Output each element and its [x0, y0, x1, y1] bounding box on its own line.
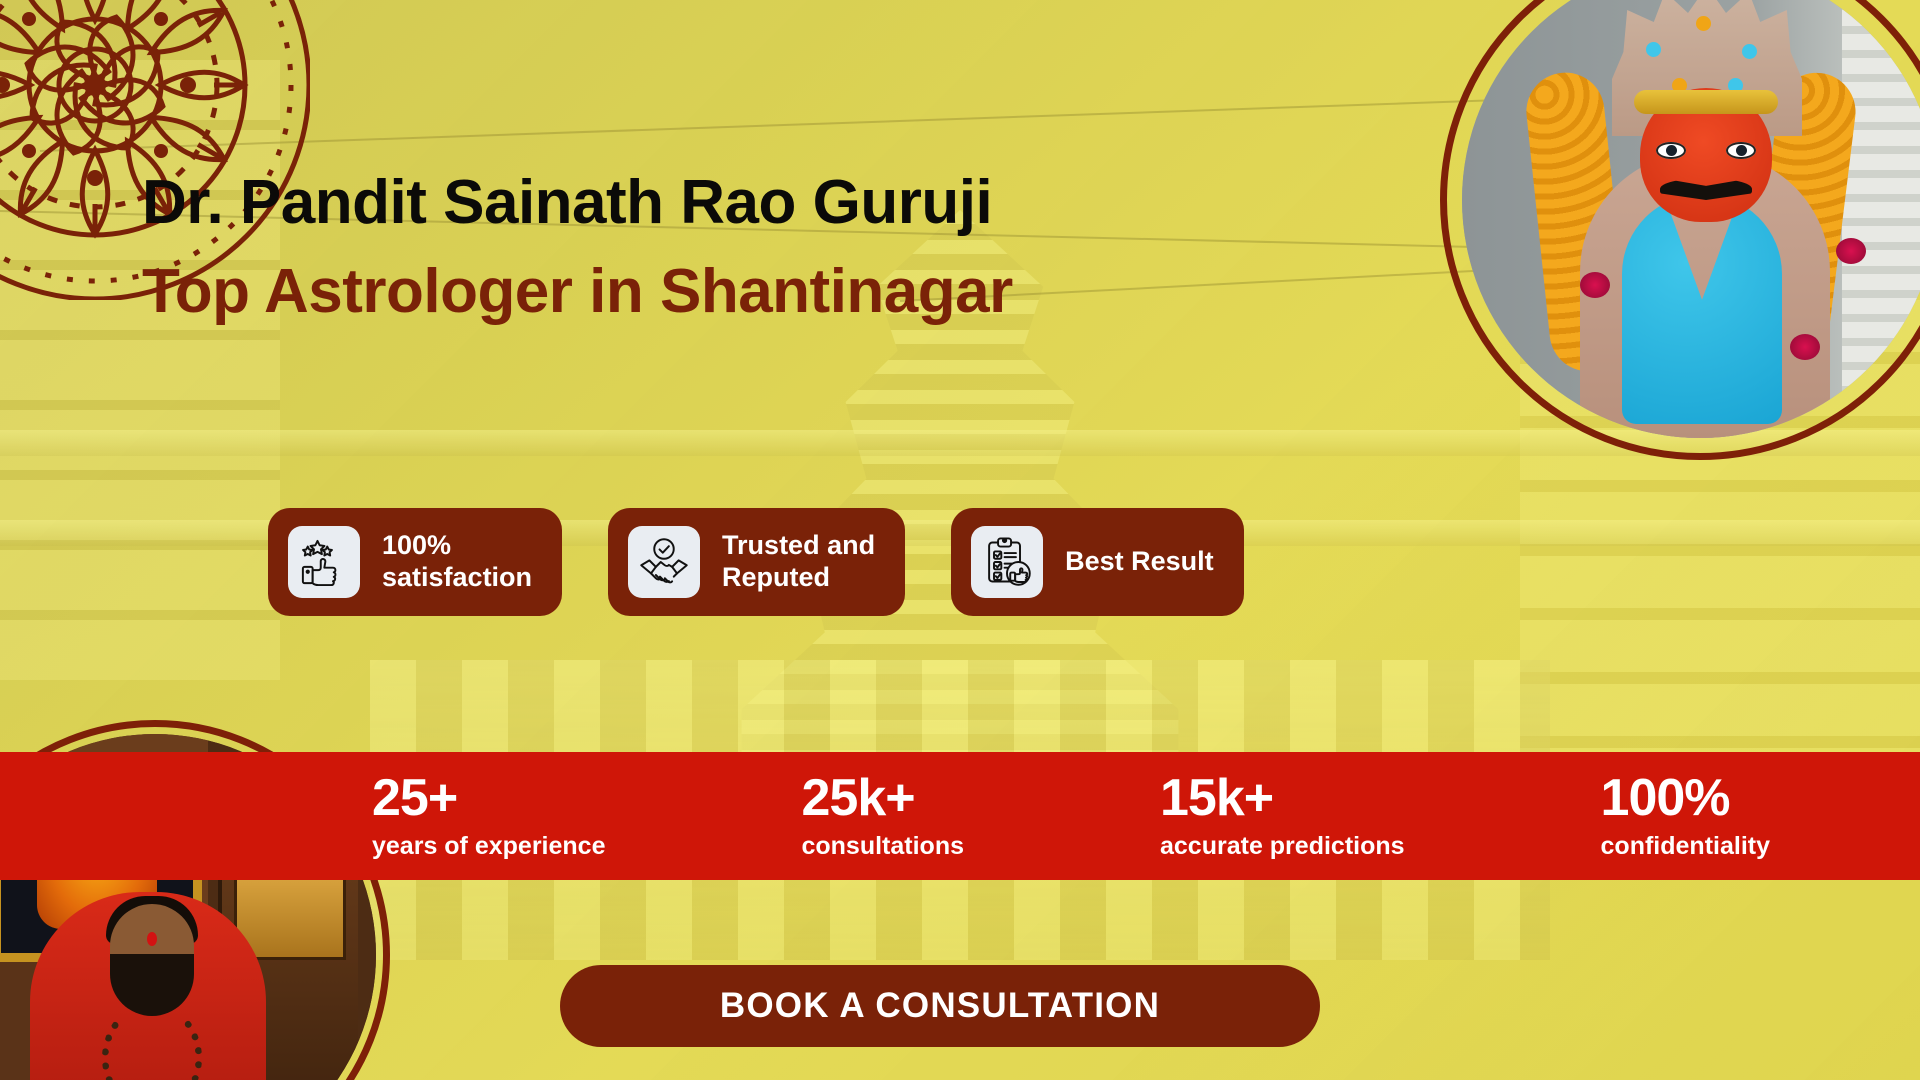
badge-label: 100% satisfaction — [382, 530, 532, 594]
stat-value: 15k+ — [1160, 772, 1405, 824]
deity-photo-circle — [1440, 0, 1920, 460]
page-title: Dr. Pandit Sainath Rao Guruji — [142, 170, 1013, 237]
stat-label: years of experience — [372, 832, 605, 861]
badge-label: Best Result — [1065, 546, 1214, 578]
stat-accurate-predictions: 15k+ accurate predictions — [1160, 772, 1405, 861]
page-subtitle: Top Astrologer in Shantinagar — [142, 259, 1013, 326]
badge-satisfaction[interactable]: 100% satisfaction — [268, 508, 562, 616]
clipboard-checklist-thumbsup-icon — [971, 526, 1043, 598]
badge-label: Trusted and Reputed — [722, 530, 875, 594]
stat-value: 100% — [1601, 772, 1770, 824]
badge-trusted[interactable]: Trusted and Reputed — [608, 508, 905, 616]
stat-years-of-experience: 25+ years of experience — [372, 772, 605, 861]
badge-best-result[interactable]: Best Result — [951, 508, 1244, 616]
stat-confidentiality: 100% confidentiality — [1601, 772, 1770, 861]
handshake-verified-icon — [628, 526, 700, 598]
stat-value: 25+ — [372, 772, 605, 824]
stat-label: consultations — [801, 832, 964, 861]
astrology-hero-banner: Dr. Pandit Sainath Rao Guruji Top Astrol… — [0, 0, 1920, 1080]
stat-label: confidentiality — [1601, 832, 1770, 861]
stat-label: accurate predictions — [1160, 832, 1405, 861]
hero-heading-block: Dr. Pandit Sainath Rao Guruji Top Astrol… — [142, 170, 1013, 326]
stats-bar: 25+ years of experience 25k+ consultatio… — [0, 752, 1920, 880]
feature-badge-list: 100% satisfaction Trusted and Reputed — [268, 508, 1244, 616]
book-a-consultation-button[interactable]: BOOK A CONSULTATION — [560, 965, 1320, 1047]
stat-consultations: 25k+ consultations — [801, 772, 964, 861]
stat-value: 25k+ — [801, 772, 964, 824]
thumbs-up-stars-icon — [288, 526, 360, 598]
